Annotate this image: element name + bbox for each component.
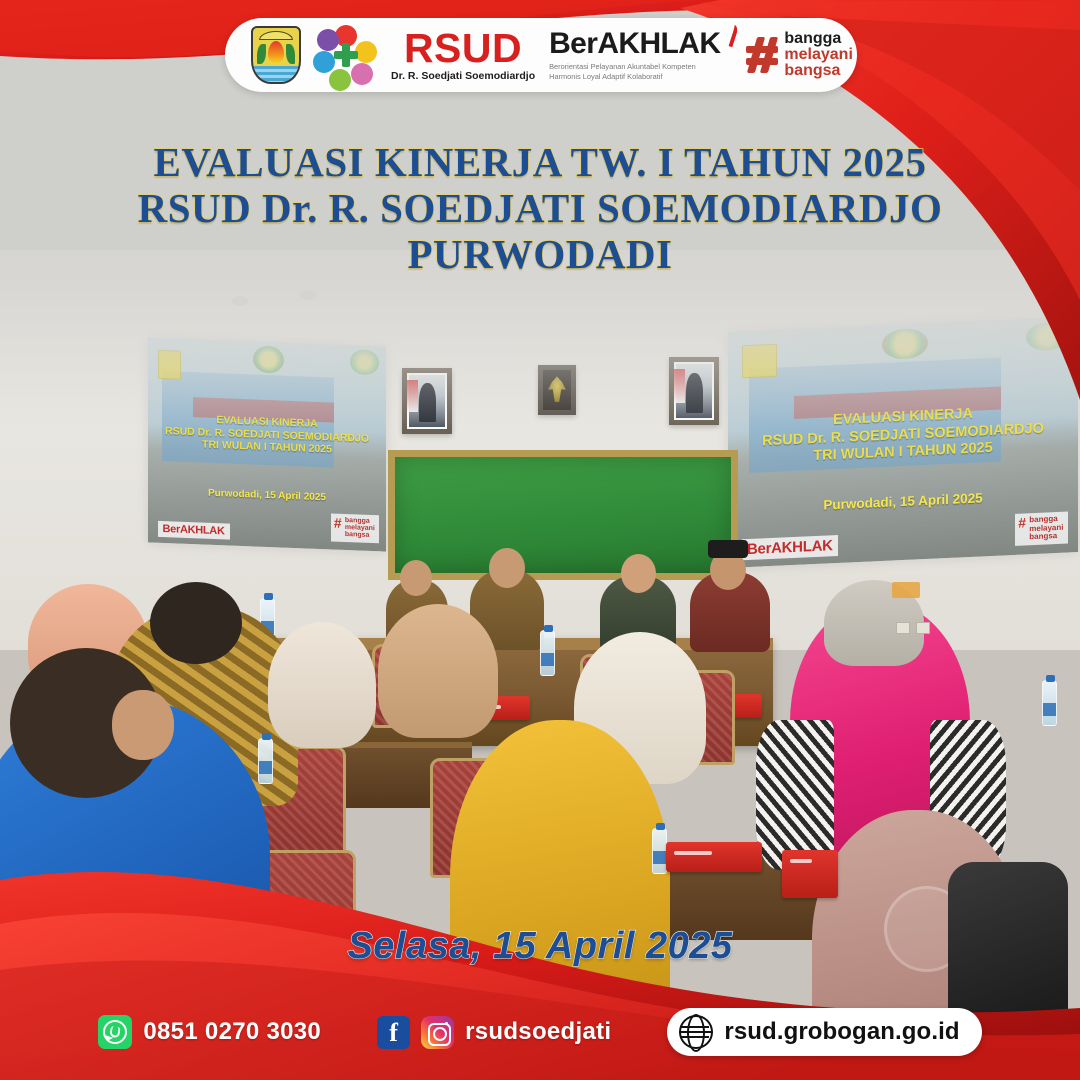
whatsapp-number: 0851 0270 3030 [143,1018,321,1046]
panelist-head [621,554,656,593]
event-date-text: Selasa, 15 April 2025 [347,925,732,967]
instagram-icon[interactable] [421,1016,454,1049]
header-logo-bar: RSUD Dr. R. Soedjati Soemodiardjo BerAKH… [225,18,857,92]
water-bottle [258,738,273,784]
slide-logo-center [253,346,284,374]
peci-cap [708,540,748,558]
bangga-melayani-bangsa-logo: bangga melayani bangsa [748,31,852,80]
title-line-1: EVALUASI KINERJA TW. I TAHUN 2025 [0,140,1080,186]
poster-title: EVALUASI KINERJA TW. I TAHUN 2025 RSUD D… [0,140,1080,278]
projection-screen-left: EVALUASI KINERJA RSUD Dr. R. SOEDJATI SO… [148,337,386,551]
ceiling-fixture [232,296,248,306]
wall-socket [896,622,910,634]
social-handle: rsudsoedjati [465,1018,611,1046]
ceiling-fixture [300,290,316,300]
grobogan-regency-emblem-icon [251,26,301,84]
audience-member [378,604,498,738]
rsud-title: RSUD [391,28,535,69]
slide-berakhlak-badge: BerAKHLAK [158,521,230,540]
panelist-head [489,548,525,588]
bangga-line-1: bangga [784,31,852,47]
bangga-line-3: bangsa [784,63,852,79]
social-media-contact[interactable]: f rsudsoedjati [377,1016,611,1049]
audience-face [112,690,174,760]
wall-socket [916,622,930,634]
berakhlak-values-line-1: Berorientasi Pelayanan Akuntabel Kompete… [549,62,720,71]
website-url: rsud.grobogan.go.id [724,1018,959,1046]
berakhlak-swoosh-icon [721,23,739,48]
whatsapp-contact[interactable]: 0851 0270 3030 [98,1015,321,1049]
event-date: Selasa, 15 April 2025 [0,925,1080,968]
audience-member [268,622,376,748]
panelist-head [400,560,432,596]
hashtag-icon [748,37,778,73]
audience-sleeve [756,720,834,870]
facebook-icon[interactable]: f [377,1016,410,1049]
rsud-subtitle: Dr. R. Soedjati Soemodiardjo [391,71,535,82]
green-whiteboard [388,450,738,580]
whatsapp-icon [98,1015,132,1049]
title-line-2: RSUD Dr. R. SOEDJATI SOEMODIARDJO [0,186,1080,232]
wall-sign [892,582,920,598]
slide-logo-right [350,349,379,375]
presidential-portrait-frame [402,368,452,434]
water-bottle [652,828,667,874]
garuda-emblem-frame [538,365,576,415]
title-line-3: PURWODADI [0,232,1080,278]
water-bottle [540,630,555,676]
website-contact[interactable]: rsud.grobogan.go.id [667,1008,981,1056]
slide-bangga-badge: bangga melayani bangsa [1015,512,1067,546]
berakhlak-title: BerAKHLAK [549,29,720,59]
poster-canvas: EVALUASI KINERJA RSUD Dr. R. SOEDJATI SO… [0,0,1080,1080]
bangga-line-2: melayani [784,47,852,63]
slide-berakhlak-badge: BerAKHLAK [742,535,838,560]
contact-footer: 0851 0270 3030 f rsudsoedjati rsud.grobo… [0,988,1080,1080]
snack-box [782,850,838,898]
rsud-people-circle-emblem-icon [315,25,377,85]
water-bottle [1042,680,1057,726]
medical-cross-icon [334,43,358,67]
slide-logo-grobogan [742,344,777,379]
snack-box [666,842,762,872]
berakhlak-values-line-2: Harmonis Loyal Adaptif Kolaboratif [549,72,720,81]
audience-head [150,582,242,664]
rsud-wordmark: RSUD Dr. R. Soedjati Soemodiardjo [391,28,535,82]
globe-icon [679,1015,713,1049]
berakhlak-logo: BerAKHLAK Berorientasi Pelayanan Akuntab… [549,29,734,81]
slide-logo-grobogan [158,350,182,380]
slide-bangga-badge: bangga melayani bangsa [331,513,379,543]
vice-presidential-portrait-frame [669,357,719,425]
projection-screen-right: EVALUASI KINERJA RSUD Dr. R. SOEDJATI SO… [728,316,1078,568]
